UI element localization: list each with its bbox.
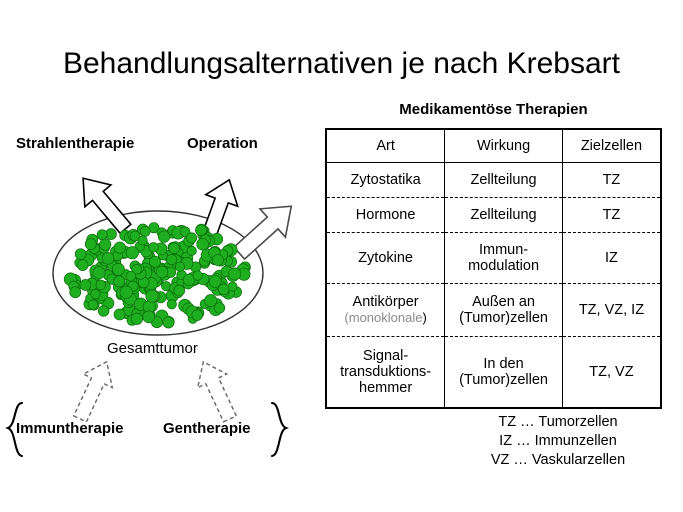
tumor-cell bbox=[214, 303, 225, 314]
tumor-cell bbox=[229, 268, 241, 280]
cell-art-line1: Signal- bbox=[363, 348, 408, 364]
tumor-cell bbox=[186, 233, 196, 243]
tumor-cell bbox=[126, 246, 138, 258]
cell-wirkung-line2: (Tumor)zellen bbox=[459, 310, 548, 326]
tumor-cell bbox=[75, 249, 86, 260]
cell-wirkung: Immun- modulation bbox=[445, 233, 563, 284]
tumor-cell bbox=[114, 276, 125, 287]
cell-wirkung-line1: Immun- bbox=[479, 242, 528, 258]
column-header-art: Art bbox=[326, 129, 445, 163]
tumor-cell bbox=[146, 290, 158, 302]
table-row: Zytokine Immun- modulation IZ bbox=[326, 233, 661, 284]
tumor-cell bbox=[192, 310, 203, 321]
cell-wirkung-line1: Außen an bbox=[472, 294, 535, 310]
tumor-cell bbox=[114, 242, 125, 253]
tumor-cell bbox=[100, 239, 111, 250]
column-header-zielzellen: Zielzellen bbox=[562, 129, 661, 163]
tumor-cell bbox=[166, 254, 176, 264]
column-header-wirkung: Wirkung bbox=[445, 129, 563, 163]
cell-wirkung: Zellteilung bbox=[445, 198, 563, 233]
cell-art-line2: transduktions- bbox=[340, 364, 431, 380]
tumor-cell bbox=[167, 300, 176, 309]
tumor-cell bbox=[114, 309, 125, 320]
cell-zielzellen: TZ bbox=[562, 163, 661, 198]
tumor-cell bbox=[96, 280, 106, 290]
tumor-cell bbox=[163, 317, 174, 328]
tumor-cell bbox=[126, 271, 136, 281]
cell-art: Zytostatika bbox=[326, 163, 445, 198]
label-gesamttumor: Gesamttumor bbox=[107, 340, 198, 357]
tumor-cell bbox=[140, 226, 150, 236]
tumor-cell bbox=[70, 287, 81, 298]
cell-zielzellen: TZ bbox=[562, 198, 661, 233]
tumor-cell bbox=[91, 289, 101, 299]
tumor-cell bbox=[98, 306, 109, 317]
cell-art: Zytokine bbox=[326, 233, 445, 284]
tumor-cell bbox=[85, 239, 96, 250]
cell-wirkung-line2: (Tumor)zellen bbox=[459, 372, 548, 388]
tumor-cell bbox=[218, 284, 229, 295]
cell-wirkung: Außen an (Tumor)zellen bbox=[445, 284, 563, 337]
tumor-cell bbox=[97, 230, 107, 240]
tumor-cell bbox=[138, 236, 147, 245]
tumor-cell bbox=[156, 266, 168, 278]
label-gentherapie: Gentherapie bbox=[163, 420, 251, 437]
tumor-cell bbox=[169, 243, 180, 254]
cell-zielzellen: TZ, VZ bbox=[562, 337, 661, 409]
cell-art: Hormone bbox=[326, 198, 445, 233]
label-strahlentherapie: Strahlentherapie bbox=[16, 135, 134, 152]
tumor-cell bbox=[93, 267, 105, 279]
tumor-cell bbox=[112, 263, 124, 275]
tumor-cell bbox=[80, 279, 91, 290]
legend-line-tz: TZ … Tumorzellen bbox=[452, 413, 664, 432]
therapy-table: Art Wirkung Zielzellen Zytostatika Zellt… bbox=[325, 128, 662, 409]
tumor-cell bbox=[174, 285, 185, 296]
tumor-cell bbox=[149, 256, 160, 267]
cell-art-subtitle-text: (monoklonale bbox=[344, 310, 422, 325]
label-immuntherapie: Immuntherapie bbox=[16, 420, 124, 437]
cell-art-main: Antikörper bbox=[353, 294, 419, 310]
tumor-cell bbox=[77, 260, 88, 271]
tumor-cell bbox=[197, 238, 209, 250]
tumor-cell bbox=[149, 243, 159, 253]
table-heading: Medikamentöse Therapien bbox=[325, 101, 662, 118]
cell-art-line3: hemmer bbox=[359, 380, 412, 396]
tumor-cell bbox=[143, 311, 155, 323]
cell-art-subtitle: (monoklonale) bbox=[344, 310, 426, 325]
cell-zielzellen: TZ, VZ, IZ bbox=[562, 284, 661, 337]
cell-wirkung-line2: modulation bbox=[468, 258, 539, 274]
cell-zielzellen: IZ bbox=[562, 233, 661, 284]
table-row: Signal- transduktions- hemmer In den (Tu… bbox=[326, 337, 661, 409]
tumor-cell bbox=[175, 262, 184, 271]
tumor-cell bbox=[193, 271, 203, 281]
slide-canvas: Behandlungsalternativen je nach Krebsart bbox=[0, 0, 683, 512]
label-operation: Operation bbox=[187, 135, 258, 152]
table-header-row: Art Wirkung Zielzellen bbox=[326, 129, 661, 163]
tumor-cell bbox=[161, 281, 170, 290]
table-row: Zytostatika Zellteilung TZ bbox=[326, 163, 661, 198]
tumor-cell bbox=[212, 254, 223, 265]
tumor-cell bbox=[102, 252, 114, 264]
tumor-cell bbox=[120, 286, 132, 298]
cell-wirkung-line1: In den bbox=[483, 356, 523, 372]
cell-wirkung: In den (Tumor)zellen bbox=[445, 337, 563, 409]
tumor-cell bbox=[187, 246, 196, 255]
tumor-cell bbox=[131, 313, 143, 325]
tumor-cell bbox=[196, 225, 207, 236]
table-row: Hormone Zellteilung TZ bbox=[326, 198, 661, 233]
cell-art: Antikörper (monoklonale) bbox=[326, 284, 445, 337]
legend-line-iz: IZ … Immunzellen bbox=[452, 432, 664, 451]
legend-line-vz: VZ … Vaskularzellen bbox=[452, 451, 664, 470]
tumor-cell bbox=[88, 300, 98, 310]
cell-art-subtitle-paren: ) bbox=[422, 310, 426, 325]
cell-art: Signal- transduktions- hemmer bbox=[326, 337, 445, 409]
cell-wirkung: Zellteilung bbox=[445, 163, 563, 198]
abbreviation-legend: TZ … Tumorzellen IZ … Immunzellen VZ … V… bbox=[452, 413, 664, 470]
table-row: Antikörper (monoklonale) Außen an (Tumor… bbox=[326, 284, 661, 337]
